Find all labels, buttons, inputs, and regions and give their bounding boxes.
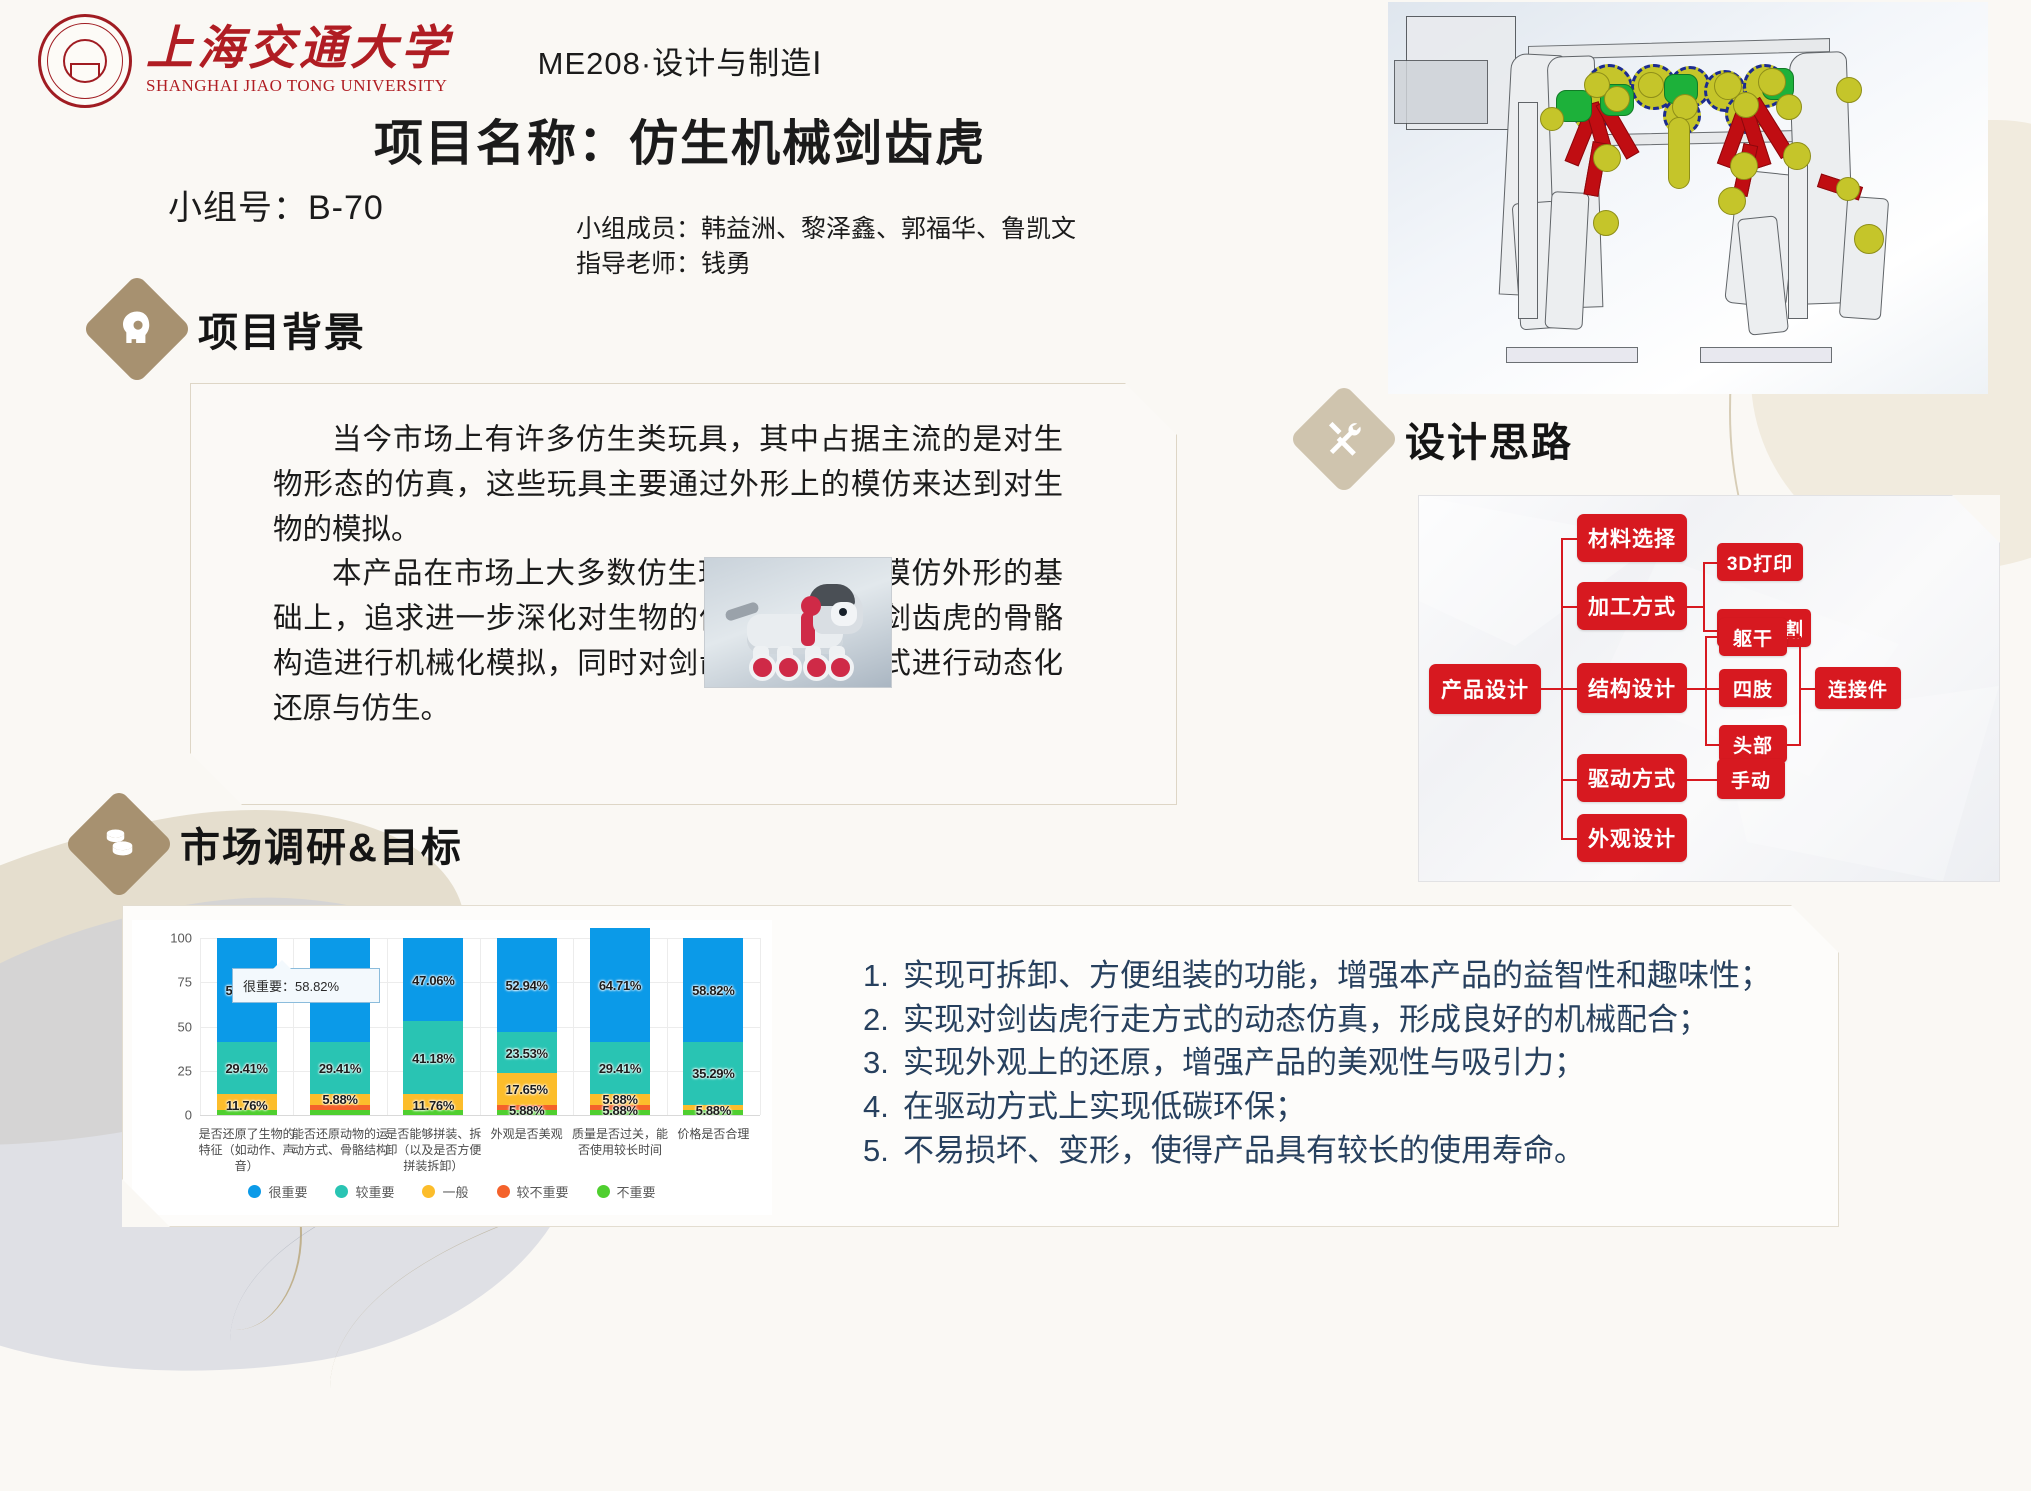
background-paragraph-1: 当今市场上有许多仿生类玩具，其中占据主流的是对生物形态的仿真，这些玩具主要通过外… bbox=[273, 418, 1063, 552]
legend-label: 较重要 bbox=[355, 1182, 394, 1201]
chart-value-label: 47.06% bbox=[403, 973, 463, 988]
goal-number: 1. bbox=[863, 954, 897, 998]
legend-dot bbox=[335, 1185, 348, 1198]
section-title-background: 项目背景 bbox=[198, 300, 366, 358]
flow-node-root[interactable]: 产品设计 bbox=[1429, 664, 1541, 714]
background-card: 当今市场上有许多仿生类玩具，其中占据主流的是对生物形态的仿真，这些玩具主要通过外… bbox=[190, 383, 1177, 805]
cad-pin-13 bbox=[1836, 177, 1860, 201]
goal-item: 5.不易损坏、变形，使得产品具有较长的使用寿命。 bbox=[863, 1129, 1771, 1173]
tools-icon bbox=[1321, 416, 1367, 462]
chart-plot-area: 100 75 50 25 0 58.82%29.41%11.76%58.82%2… bbox=[200, 938, 760, 1115]
flow-node-connector[interactable]: 连接件 bbox=[1815, 667, 1901, 709]
chart-category-label: 能否还原动物的运动方式、骨骼结构 bbox=[288, 1126, 392, 1158]
y-tick-100: 100 bbox=[170, 931, 192, 946]
goal-item: 2.实现对剑齿虎行走方式的动态仿真，形成良好的机械配合； bbox=[863, 998, 1771, 1042]
flow-connector-merge-bottom bbox=[1787, 744, 1801, 748]
flow-node-manual[interactable]: 手动 bbox=[1717, 759, 1785, 799]
section-header-background: 项目背景 bbox=[98, 290, 366, 368]
flow-connector-manual bbox=[1687, 779, 1717, 783]
head-gear-icon bbox=[114, 306, 160, 352]
chart-category-label: 是否还原了生物的特征（如动作、声音） bbox=[195, 1126, 299, 1175]
flow-spine-process bbox=[1703, 562, 1707, 632]
goal-text: 实现可拆卸、方便组装的功能，增强本产品的益智性和趣味性； bbox=[903, 954, 1771, 998]
toy-wheel-4 bbox=[827, 654, 854, 681]
legend-dot bbox=[422, 1185, 435, 1198]
flow-connector-structure bbox=[1687, 688, 1705, 692]
legend-label: 很重要 bbox=[268, 1182, 307, 1201]
flow-connector-limbs bbox=[1705, 688, 1719, 692]
legend-dot bbox=[248, 1185, 261, 1198]
chart-value-label: 5.88% bbox=[497, 1103, 557, 1118]
cad-tail-plate bbox=[1839, 196, 1889, 321]
chart-value-label: 5.88% bbox=[310, 1092, 370, 1107]
goal-number: 5. bbox=[863, 1129, 897, 1173]
chart-category-label: 是否能够拼装、拆卸（以及是否方便拼装拆卸） bbox=[381, 1126, 485, 1175]
toy-wheel-3 bbox=[803, 654, 830, 681]
team-members: 小组成员：韩益洲、黎泽鑫、郭福华、鲁凯文 bbox=[576, 212, 1076, 247]
flow-node-material[interactable]: 材料选择 bbox=[1577, 514, 1687, 562]
cad-foot-left bbox=[1506, 347, 1638, 363]
flow-connector-l1-5 bbox=[1561, 838, 1577, 842]
section-title-design: 设计思路 bbox=[1405, 410, 1573, 468]
legend-dot bbox=[597, 1185, 610, 1198]
chart-category-label: 质量是否过关，能否使用较长时间 bbox=[568, 1126, 672, 1158]
cad-pin-4 bbox=[1672, 94, 1698, 120]
design-flowchart-card: 产品设计 材料选择 加工方式 3D打印 激光切割 结构设计 躯干 四肢 头部 连… bbox=[1418, 495, 2000, 882]
goal-number: 2. bbox=[863, 998, 897, 1042]
flow-connector-laser bbox=[1703, 630, 1717, 634]
goals-list: 1.实现可拆卸、方便组装的功能，增强本产品的益智性和趣味性；2.实现对剑齿虎行走… bbox=[863, 954, 1771, 1173]
chart-value-label: 11.76% bbox=[217, 1098, 277, 1113]
chart-bar[interactable]: 58.82%35.29%5.88% bbox=[683, 938, 743, 1115]
page-title: 项目名称：仿生机械剑齿虎 bbox=[0, 104, 1360, 175]
cad-pin-6 bbox=[1733, 92, 1759, 118]
group-number: 小组号：B-70 bbox=[168, 180, 384, 229]
cad-pin-10 bbox=[1730, 152, 1758, 180]
goal-number: 4. bbox=[863, 1085, 897, 1129]
chart-category-label: 外观是否美观 bbox=[475, 1126, 579, 1142]
toy-eye bbox=[839, 608, 847, 616]
toy-photo-image bbox=[704, 557, 892, 688]
chart-value-label: 29.41% bbox=[590, 1061, 650, 1076]
legend-item[interactable]: 较重要 bbox=[335, 1182, 394, 1201]
flow-connector-l1-3 bbox=[1561, 688, 1577, 692]
cad-pin-17 bbox=[1854, 224, 1884, 254]
section-header-market: 市场调研&目标 bbox=[80, 805, 463, 883]
flow-connector-l1-4 bbox=[1561, 779, 1577, 783]
goal-text: 不易损坏、变形，使得产品具有较长的使用寿命。 bbox=[903, 1129, 1585, 1173]
background-text: 当今市场上有许多仿生类玩具，其中占据主流的是对生物形态的仿真，这些玩具主要通过外… bbox=[273, 418, 1063, 732]
legend-item[interactable]: 一般 bbox=[422, 1182, 468, 1201]
cad-foot-right bbox=[1700, 347, 1832, 363]
flow-connector-3dp bbox=[1703, 562, 1717, 566]
chart-legend: 很重要较重要一般较不重要不重要 bbox=[132, 1182, 772, 1201]
cad-stand-left bbox=[1518, 102, 1538, 319]
flow-node-limbs[interactable]: 四肢 bbox=[1719, 669, 1787, 707]
chart-value-label: 5.88% bbox=[683, 1103, 743, 1118]
cad-pin-8 bbox=[1776, 94, 1802, 120]
market-badge bbox=[64, 789, 174, 899]
y-tick-25: 25 bbox=[178, 1063, 192, 1078]
legend-label: 较不重要 bbox=[517, 1182, 569, 1201]
cad-pin-7 bbox=[1758, 68, 1786, 96]
chart-segment-base bbox=[310, 1110, 370, 1115]
chart-value-label: 64.71% bbox=[590, 978, 650, 993]
flow-node-process[interactable]: 加工方式 bbox=[1577, 582, 1687, 630]
chart-tooltip: 很重要：58.82% bbox=[232, 968, 380, 1003]
goal-item: 3.实现外观上的还原，增强产品的美观性与吸引力； bbox=[863, 1041, 1771, 1085]
flow-node-structure[interactable]: 结构设计 bbox=[1577, 663, 1687, 713]
chart-value-label: 23.53% bbox=[497, 1046, 557, 1061]
coins-stack-icon bbox=[96, 821, 142, 867]
cad-pin-3 bbox=[1638, 72, 1664, 98]
goal-item: 1.实现可拆卸、方便组装的功能，增强本产品的益智性和趣味性； bbox=[863, 954, 1771, 998]
cad-pin-15 bbox=[1593, 210, 1619, 236]
flow-node-appearance[interactable]: 外观设计 bbox=[1577, 814, 1687, 862]
advisor: 指导老师：钱勇 bbox=[576, 247, 1076, 282]
cad-pin-9 bbox=[1593, 144, 1621, 172]
chart-bar[interactable]: 58.82%29.41%11.76% bbox=[217, 938, 277, 1115]
chart-value-label: 29.41% bbox=[217, 1061, 277, 1076]
flow-connector-merge bbox=[1799, 688, 1815, 692]
chart-value-label: 29.41% bbox=[310, 1061, 370, 1076]
section-title-market: 市场调研&目标 bbox=[180, 815, 463, 873]
flow-connector-root bbox=[1541, 688, 1561, 692]
chart-category-label: 价格是否合理 bbox=[661, 1126, 765, 1142]
legend-label: 一般 bbox=[442, 1182, 468, 1201]
flow-node-drive[interactable]: 驱动方式 bbox=[1577, 754, 1687, 802]
cad-pin-11 bbox=[1783, 142, 1811, 170]
market-card: 100 75 50 25 0 58.82%29.41%11.76%58.82%2… bbox=[122, 905, 1839, 1227]
cad-render-image bbox=[1388, 2, 1988, 394]
flow-node-3dprint[interactable]: 3D打印 bbox=[1717, 543, 1803, 581]
chart-bar[interactable]: 58.82%29.41%5.88% bbox=[310, 938, 370, 1115]
chart-bar[interactable]: 47.06%41.18%11.76% bbox=[403, 938, 463, 1115]
cad-shaft bbox=[1668, 117, 1690, 189]
cad-head-block bbox=[1394, 60, 1488, 124]
chart-value-label: 11.76% bbox=[403, 1098, 463, 1113]
goal-text: 实现外观上的还原，增强产品的美观性与吸引力； bbox=[903, 1041, 1585, 1085]
cad-pin-12 bbox=[1836, 77, 1862, 103]
background-badge bbox=[82, 274, 192, 384]
chart-value-label: 58.82% bbox=[683, 983, 743, 998]
legend-item[interactable]: 很重要 bbox=[248, 1182, 307, 1201]
goal-number: 3. bbox=[863, 1041, 897, 1085]
chart-value-label: 52.94% bbox=[497, 978, 557, 993]
flow-node-head[interactable]: 头部 bbox=[1719, 725, 1787, 763]
chart-bar[interactable]: 64.71%29.41%5.88%5.88% bbox=[590, 938, 650, 1115]
goal-text: 实现对剑齿虎行走方式的动态仿真，形成良好的机械配合； bbox=[903, 998, 1709, 1042]
toy-wheel-2 bbox=[775, 654, 802, 681]
y-tick-50: 50 bbox=[178, 1019, 192, 1034]
chart-bar[interactable]: 52.94%23.53%17.65%5.88% bbox=[497, 938, 557, 1115]
tooltip-text: 很重要：58.82% bbox=[243, 979, 339, 994]
design-badge bbox=[1289, 384, 1399, 494]
y-tick-0: 0 bbox=[185, 1108, 192, 1123]
flow-node-torso[interactable]: 躯干 bbox=[1719, 618, 1787, 656]
background-paragraph-2: 本产品在市场上大多数仿生玩具所具有的模仿外形的基础上，追求进一步深化对生物的仿生… bbox=[273, 552, 1063, 731]
cad-front-lower-leg-2 bbox=[1544, 191, 1589, 330]
cad-pin-14 bbox=[1540, 107, 1564, 131]
flow-connector-l1-2 bbox=[1561, 606, 1577, 610]
chart-value-label: 35.29% bbox=[683, 1066, 743, 1081]
legend-item[interactable]: 较不重要 bbox=[497, 1182, 569, 1201]
flow-connector-head bbox=[1705, 744, 1719, 748]
flow-connector-l1-1 bbox=[1561, 538, 1577, 542]
y-tick-75: 75 bbox=[178, 975, 192, 990]
chart-value-label: 17.65% bbox=[497, 1082, 557, 1097]
legend-dot bbox=[497, 1185, 510, 1198]
legend-item[interactable]: 不重要 bbox=[597, 1182, 656, 1201]
goal-item: 4.在驱动方式上实现低碳环保； bbox=[863, 1085, 1771, 1129]
toy-wheel-1 bbox=[749, 654, 776, 681]
flow-connector-process bbox=[1687, 606, 1703, 610]
cad-stand-right bbox=[1788, 152, 1808, 319]
people-block: 小组成员：韩益洲、黎泽鑫、郭福华、鲁凯文 指导老师：钱勇 bbox=[576, 212, 1076, 281]
course-code: ME208·设计与制造Ⅰ bbox=[0, 38, 1360, 83]
flow-connector-torso bbox=[1705, 636, 1719, 640]
goals-ordered-list: 1.实现可拆卸、方便组装的功能，增强本产品的益智性和趣味性；2.实现对剑齿虎行走… bbox=[863, 954, 1771, 1173]
toy-ear bbox=[801, 596, 821, 616]
section-header-design: 设计思路 bbox=[1305, 400, 1573, 478]
chart-value-label: 5.88% bbox=[590, 1103, 650, 1118]
goal-text: 在驱动方式上实现低碳环保； bbox=[903, 1085, 1306, 1129]
cad-pin-2 bbox=[1604, 86, 1630, 112]
cad-pin-16 bbox=[1718, 187, 1746, 215]
legend-label: 不重要 bbox=[617, 1182, 656, 1201]
survey-chart: 100 75 50 25 0 58.82%29.41%11.76%58.82%2… bbox=[132, 920, 772, 1215]
chart-value-label: 41.18% bbox=[403, 1051, 463, 1066]
